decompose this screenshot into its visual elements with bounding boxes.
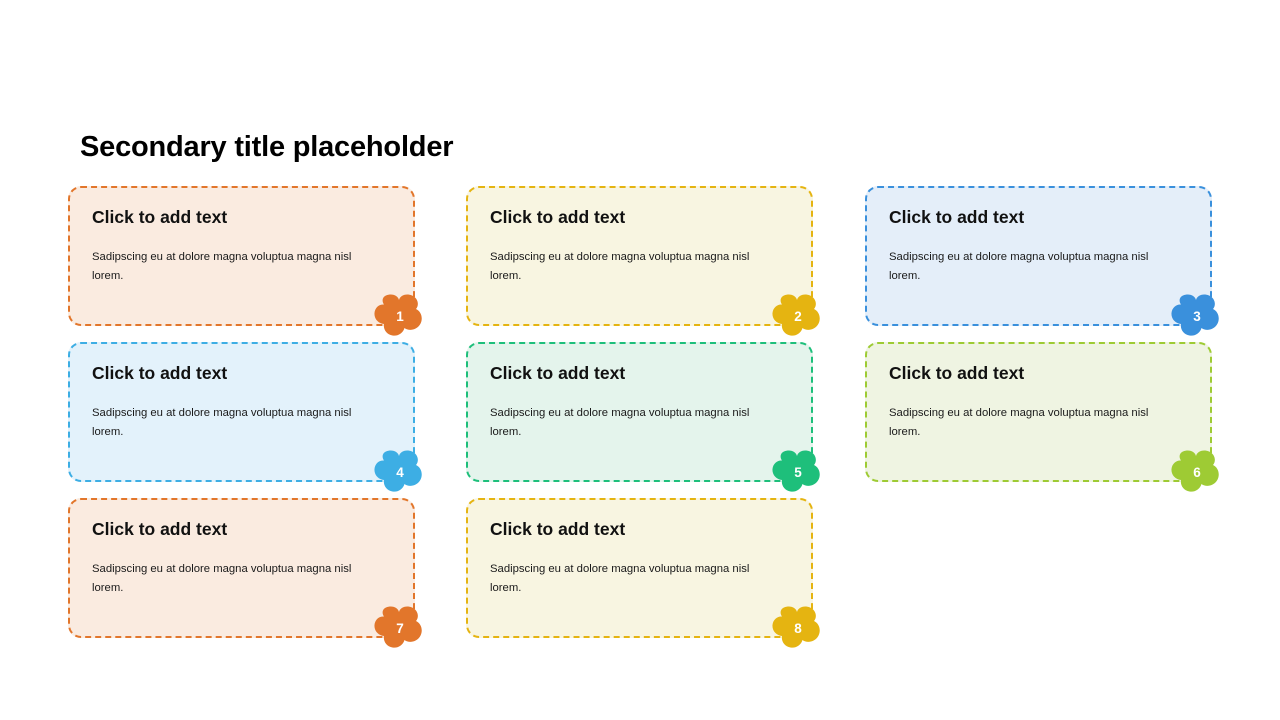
card-heading: Click to add text [889, 207, 1024, 228]
card-body-text: Sadipscing eu at dolore magna voluptua m… [889, 248, 1149, 286]
card-body-text: Sadipscing eu at dolore magna voluptua m… [490, 560, 750, 598]
card-body-text: Sadipscing eu at dolore magna voluptua m… [92, 248, 352, 286]
card-5[interactable]: Click to add text Sadipscing eu at dolor… [466, 342, 813, 482]
card-7[interactable]: Click to add text Sadipscing eu at dolor… [68, 498, 415, 638]
card-8[interactable]: Click to add text Sadipscing eu at dolor… [466, 498, 813, 638]
card-body-text: Sadipscing eu at dolore magna voluptua m… [92, 560, 352, 598]
card-6[interactable]: Click to add text Sadipscing eu at dolor… [865, 342, 1212, 482]
card-heading: Click to add text [490, 519, 625, 540]
card-3[interactable]: Click to add text Sadipscing eu at dolor… [865, 186, 1212, 326]
card-number-label: 5 [771, 450, 823, 494]
card-heading: Click to add text [92, 363, 227, 384]
card-heading: Click to add text [92, 207, 227, 228]
card-number-badge: 4 [373, 450, 425, 494]
card-number-label: 7 [373, 606, 425, 650]
card-heading: Click to add text [92, 519, 227, 540]
card-number-badge: 2 [771, 294, 823, 338]
card-number-badge: 8 [771, 606, 823, 650]
card-number-label: 2 [771, 294, 823, 338]
card-2[interactable]: Click to add text Sadipscing eu at dolor… [466, 186, 813, 326]
card-number-badge: 7 [373, 606, 425, 650]
slide-canvas: Secondary title placeholder Click to add… [0, 0, 1280, 720]
card-number-label: 6 [1170, 450, 1222, 494]
card-heading: Click to add text [889, 363, 1024, 384]
card-number-label: 4 [373, 450, 425, 494]
card-body-text: Sadipscing eu at dolore magna voluptua m… [490, 404, 750, 442]
card-number-label: 1 [373, 294, 425, 338]
card-row-2: Click to add text Sadipscing eu at dolor… [68, 342, 1216, 482]
card-number-badge: 3 [1170, 294, 1222, 338]
card-grid: Click to add text Sadipscing eu at dolor… [68, 186, 1216, 654]
card-4[interactable]: Click to add text Sadipscing eu at dolor… [68, 342, 415, 482]
card-row-3: Click to add text Sadipscing eu at dolor… [68, 498, 1216, 638]
card-body-text: Sadipscing eu at dolore magna voluptua m… [92, 404, 352, 442]
card-heading: Click to add text [490, 207, 625, 228]
card-1[interactable]: Click to add text Sadipscing eu at dolor… [68, 186, 415, 326]
card-number-badge: 5 [771, 450, 823, 494]
card-number-label: 3 [1170, 294, 1222, 338]
card-number-badge: 6 [1170, 450, 1222, 494]
card-number-badge: 1 [373, 294, 425, 338]
card-heading: Click to add text [490, 363, 625, 384]
page-title: Secondary title placeholder [80, 131, 453, 164]
card-body-text: Sadipscing eu at dolore magna voluptua m… [889, 404, 1149, 442]
card-body-text: Sadipscing eu at dolore magna voluptua m… [490, 248, 750, 286]
card-number-label: 8 [771, 606, 823, 650]
card-row-1: Click to add text Sadipscing eu at dolor… [68, 186, 1216, 326]
